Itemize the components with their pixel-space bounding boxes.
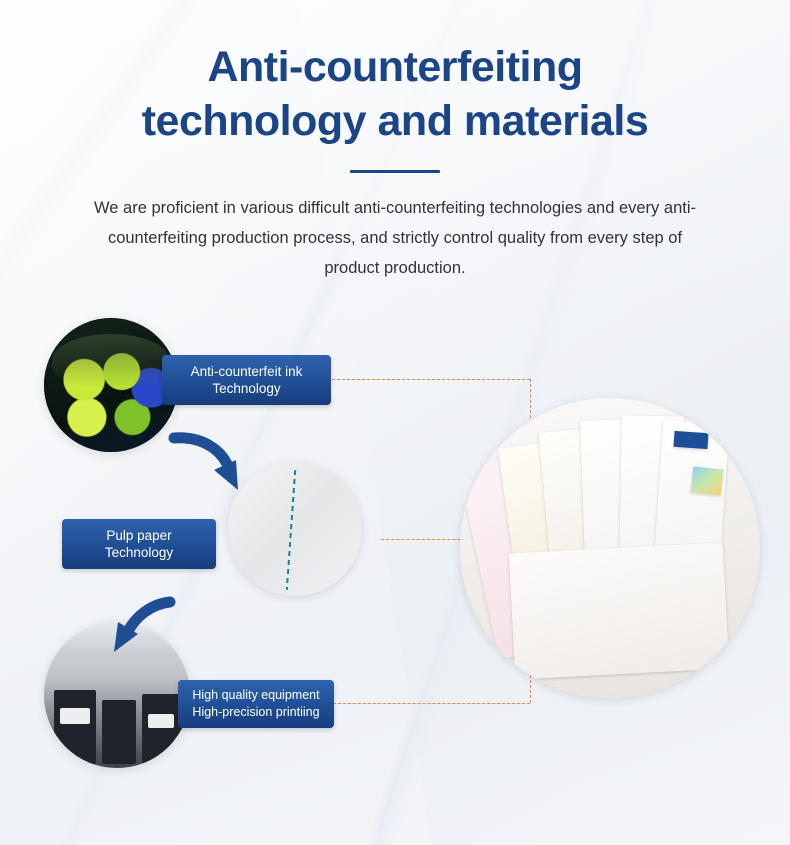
security-documents-fan-photo: [460, 398, 760, 698]
page-title-line2: technology and materials: [0, 94, 790, 148]
page-header: Anti-counterfeiting technology and mater…: [0, 40, 790, 283]
fluorescent-ink-buckets-photo: [44, 318, 178, 452]
page-title: Anti-counterfeiting technology and mater…: [0, 40, 790, 148]
page-content: Anti-counterfeiting technology and mater…: [0, 0, 790, 845]
connector-ink-to-result: [307, 379, 530, 380]
label-anti-counterfeit-ink[interactable]: Anti-counterfeit ink Technology: [162, 355, 331, 405]
page-subtitle: We are proficient in various difficult a…: [85, 193, 705, 283]
connector-equip-to-result: [318, 703, 530, 704]
paper-fiber-line: [246, 528, 336, 529]
paper-fold-line: [297, 476, 304, 584]
security-thread-paper-photo: [228, 462, 362, 596]
label-high-quality-equipment[interactable]: High quality equipment High-precision pr…: [178, 680, 334, 728]
arrow-ink-to-pulp: [168, 432, 248, 494]
label-pulp-paper[interactable]: Pulp paper Technology: [62, 519, 216, 569]
security-thread: [286, 470, 296, 590]
arrow-pulp-to-equipment: [108, 596, 180, 658]
page-title-line1: Anti-counterfeiting: [207, 43, 582, 91]
title-divider: [350, 170, 440, 173]
